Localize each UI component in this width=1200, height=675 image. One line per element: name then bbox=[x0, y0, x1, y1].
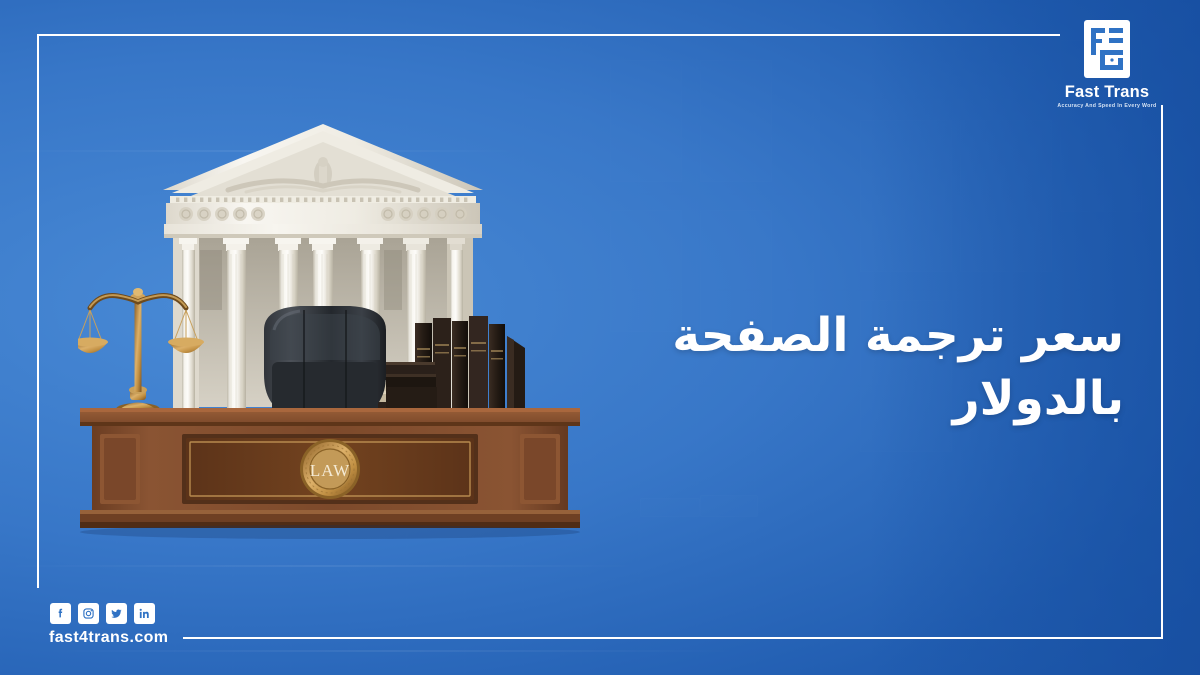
social-link-twitter[interactable] bbox=[106, 603, 127, 624]
social-links[interactable] bbox=[50, 603, 155, 624]
facebook-icon bbox=[54, 607, 67, 620]
twitter-icon bbox=[110, 607, 123, 620]
logo-wordmark: Fast Trans bbox=[1042, 84, 1172, 101]
banner-root: LAW سعر ترجمة الصفحة بالدولار bbox=[0, 0, 1200, 675]
social-link-linkedin[interactable] bbox=[134, 603, 155, 624]
social-link-instagram[interactable] bbox=[78, 603, 99, 624]
frame-line-bottom bbox=[183, 637, 1163, 639]
social-link-facebook[interactable] bbox=[50, 603, 71, 624]
brand-logo[interactable]: Fast Trans Accuracy And Speed In Every W… bbox=[1042, 20, 1172, 109]
judge-chair bbox=[264, 306, 386, 416]
frame-line-left bbox=[37, 34, 39, 588]
background-streak bbox=[40, 650, 740, 652]
logo-tagline: Accuracy And Speed In Every Word bbox=[1042, 104, 1172, 109]
frame-line-right bbox=[1161, 105, 1163, 639]
website-url[interactable]: fast4trans.com bbox=[49, 629, 168, 647]
instagram-icon bbox=[82, 607, 95, 620]
linkedin-icon bbox=[138, 607, 151, 620]
page-title: سعر ترجمة الصفحة بالدولار bbox=[504, 304, 1124, 431]
law-medallion: LAW bbox=[300, 439, 360, 499]
frame-line-top bbox=[37, 34, 1060, 36]
background-streak bbox=[0, 565, 640, 567]
svg-text:LAW: LAW bbox=[310, 461, 350, 480]
fast-trans-monogram-icon bbox=[1084, 20, 1130, 78]
